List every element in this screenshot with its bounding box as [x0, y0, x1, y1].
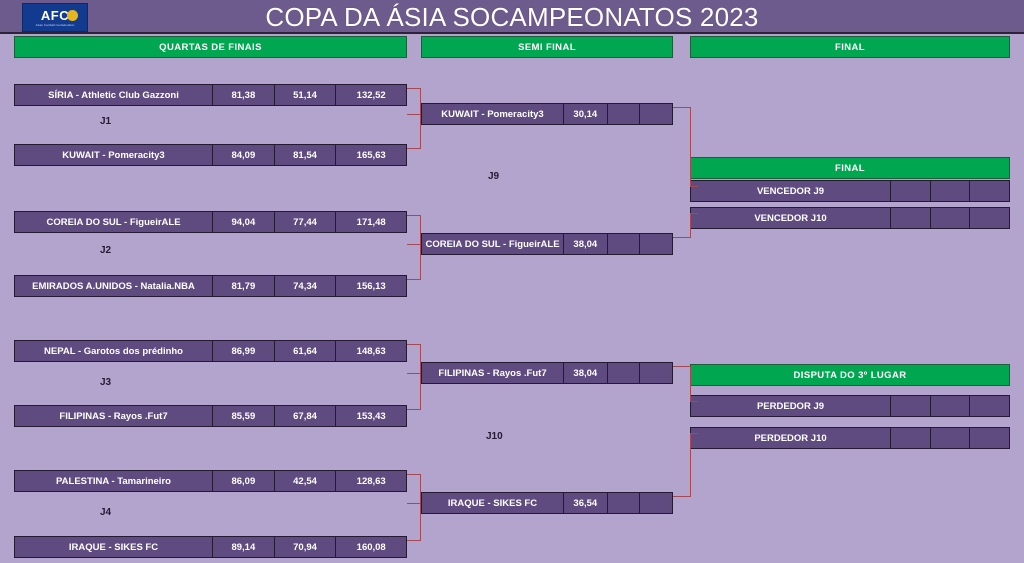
- connector-line: [420, 474, 421, 541]
- empty-cell[interactable]: [931, 181, 971, 201]
- empty-cell[interactable]: [970, 428, 1009, 448]
- score-2: 74,34: [275, 276, 337, 296]
- empty-cell[interactable]: [608, 234, 641, 254]
- connector-line: [673, 237, 691, 238]
- afc-logo-text: AFC: [41, 9, 69, 22]
- connector-line: [407, 503, 421, 504]
- score-total: 171,48: [336, 212, 406, 232]
- afc-logo-subtitle: Asian Football Confederation: [36, 23, 75, 27]
- connector-line: [407, 279, 421, 280]
- final-block-title: FINAL: [690, 157, 1010, 179]
- team-name: FILIPINAS - Rayos .Fut7: [422, 363, 564, 383]
- table-row[interactable]: SÍRIA - Athletic Club Gazzoni 81,38 51,1…: [14, 84, 407, 106]
- connector-line: [690, 401, 698, 402]
- team-name: IRAQUE - SIKES FC: [422, 493, 564, 513]
- score-1: 86,99: [213, 341, 275, 361]
- match-code-j4: J4: [100, 507, 111, 518]
- connector-line: [407, 148, 421, 149]
- score-2: 42,54: [275, 471, 337, 491]
- connector-line: [690, 433, 698, 434]
- team-name: VENCEDOR J9: [691, 181, 891, 201]
- team-name: PALESTINA - Tamarineiro: [15, 471, 213, 491]
- empty-cell[interactable]: [891, 396, 931, 416]
- team-name: COREIA DO SUL - FigueirALE: [422, 234, 564, 254]
- score-1: 94,04: [213, 212, 275, 232]
- bracket-page: COPA DA ÁSIA SOCAMPEONATOS 2023 AFC Asia…: [0, 0, 1024, 563]
- score-1: 81,79: [213, 276, 275, 296]
- connector-line: [407, 244, 421, 245]
- team-name: IRAQUE - SIKES FC: [15, 537, 213, 557]
- score-total: 128,63: [336, 471, 406, 491]
- table-row[interactable]: PALESTINA - Tamarineiro 86,09 42,54 128,…: [14, 470, 407, 492]
- team-name: NEPAL - Garotos dos prédinho: [15, 341, 213, 361]
- connector-line: [407, 114, 421, 115]
- connector-line: [690, 213, 698, 214]
- empty-cell[interactable]: [608, 493, 641, 513]
- score-2: 70,94: [275, 537, 337, 557]
- score-1: 36,54: [564, 493, 608, 513]
- team-name: VENCEDOR J10: [691, 208, 891, 228]
- table-row[interactable]: VENCEDOR J9: [690, 180, 1010, 202]
- empty-cell[interactable]: [640, 493, 672, 513]
- connector-line: [407, 474, 421, 475]
- empty-cell[interactable]: [931, 208, 971, 228]
- score-2: 51,14: [275, 85, 337, 105]
- empty-cell[interactable]: [891, 208, 931, 228]
- match-code-j10: J10: [486, 431, 503, 442]
- empty-cell[interactable]: [640, 234, 672, 254]
- empty-cell[interactable]: [931, 396, 971, 416]
- connector-line: [673, 107, 691, 108]
- team-name: KUWAIT - Pomeracity3: [422, 104, 564, 124]
- score-total: 148,63: [336, 341, 406, 361]
- empty-cell[interactable]: [640, 104, 672, 124]
- score-2: 77,44: [275, 212, 337, 232]
- score-1: 84,09: [213, 145, 275, 165]
- round-header-semifinal: SEMI FINAL: [421, 36, 673, 58]
- score-1: 86,09: [213, 471, 275, 491]
- third-place-title: DISPUTA DO 3º LUGAR: [690, 364, 1010, 386]
- score-1: 89,14: [213, 537, 275, 557]
- table-row[interactable]: EMIRADOS A.UNIDOS - Natalia.NBA 81,79 74…: [14, 275, 407, 297]
- table-row[interactable]: FILIPINAS - Rayos .Fut7 38,04: [421, 362, 673, 384]
- score-total: 160,08: [336, 537, 406, 557]
- table-row[interactable]: KUWAIT - Pomeracity3 84,09 81,54 165,63: [14, 144, 407, 166]
- connector-line: [420, 344, 421, 410]
- team-name: FILIPINAS - Rayos .Fut7: [15, 406, 213, 426]
- team-name: EMIRADOS A.UNIDOS - Natalia.NBA: [15, 276, 213, 296]
- score-total: 165,63: [336, 145, 406, 165]
- connector-line: [690, 366, 691, 401]
- empty-cell[interactable]: [970, 208, 1009, 228]
- team-name: COREIA DO SUL - FigueirALE: [15, 212, 213, 232]
- connector-line: [407, 409, 421, 410]
- connector-line: [407, 540, 421, 541]
- table-row[interactable]: KUWAIT - Pomeracity3 30,14: [421, 103, 673, 125]
- match-code-j2: J2: [100, 245, 111, 256]
- page-title: COPA DA ÁSIA SOCAMPEONATOS 2023: [0, 0, 1024, 34]
- score-1: 81,38: [213, 85, 275, 105]
- empty-cell[interactable]: [891, 428, 931, 448]
- score-total: 156,13: [336, 276, 406, 296]
- connector-line: [407, 373, 421, 374]
- table-row[interactable]: PERDEDOR J10: [690, 427, 1010, 449]
- table-row[interactable]: PERDEDOR J9: [690, 395, 1010, 417]
- table-row[interactable]: IRAQUE - SIKES FC 89,14 70,94 160,08: [14, 536, 407, 558]
- team-name: PERDEDOR J9: [691, 396, 891, 416]
- match-code-j9: J9: [488, 171, 499, 182]
- team-name: SÍRIA - Athletic Club Gazzoni: [15, 85, 213, 105]
- team-name: PERDEDOR J10: [691, 428, 891, 448]
- empty-cell[interactable]: [970, 181, 1009, 201]
- table-row[interactable]: IRAQUE - SIKES FC 36,54: [421, 492, 673, 514]
- table-row[interactable]: COREIA DO SUL - FigueirALE 38,04: [421, 233, 673, 255]
- score-1: 38,04: [564, 363, 608, 383]
- connector-line: [420, 88, 421, 149]
- match-code-j1: J1: [100, 116, 111, 127]
- score-1: 38,04: [564, 234, 608, 254]
- connector-line: [407, 215, 421, 216]
- table-row[interactable]: NEPAL - Garotos dos prédinho 86,99 61,64…: [14, 340, 407, 362]
- connector-line: [690, 186, 698, 187]
- title-bar: COPA DA ÁSIA SOCAMPEONATOS 2023 AFC Asia…: [0, 0, 1024, 34]
- empty-cell[interactable]: [640, 363, 672, 383]
- connector-line: [690, 213, 691, 238]
- table-row[interactable]: FILIPINAS - Rayos .Fut7 85,59 67,84 153,…: [14, 405, 407, 427]
- score-total: 132,52: [336, 85, 406, 105]
- match-code-j3: J3: [100, 377, 111, 388]
- round-header-quarterfinals: QUARTAS DE FINAIS: [14, 36, 407, 58]
- score-2: 67,84: [275, 406, 337, 426]
- round-header-final: FINAL: [690, 36, 1010, 58]
- table-row[interactable]: COREIA DO SUL - FigueirALE 94,04 77,44 1…: [14, 211, 407, 233]
- empty-cell[interactable]: [608, 363, 641, 383]
- connector-line: [690, 107, 691, 187]
- globe-icon: [67, 10, 78, 21]
- empty-cell[interactable]: [608, 104, 641, 124]
- score-total: 153,43: [336, 406, 406, 426]
- connector-line: [420, 215, 421, 280]
- score-1: 85,59: [213, 406, 275, 426]
- table-row[interactable]: VENCEDOR J10: [690, 207, 1010, 229]
- connector-line: [673, 366, 691, 367]
- connector-line: [690, 433, 691, 497]
- empty-cell[interactable]: [931, 428, 971, 448]
- connector-line: [407, 88, 421, 89]
- score-2: 61,64: [275, 341, 337, 361]
- score-2: 81,54: [275, 145, 337, 165]
- empty-cell[interactable]: [891, 181, 931, 201]
- score-1: 30,14: [564, 104, 608, 124]
- team-name: KUWAIT - Pomeracity3: [15, 145, 213, 165]
- empty-cell[interactable]: [970, 396, 1009, 416]
- afc-logo: AFC Asian Football Confederation: [22, 3, 88, 32]
- connector-line: [407, 344, 421, 345]
- connector-line: [673, 496, 691, 497]
